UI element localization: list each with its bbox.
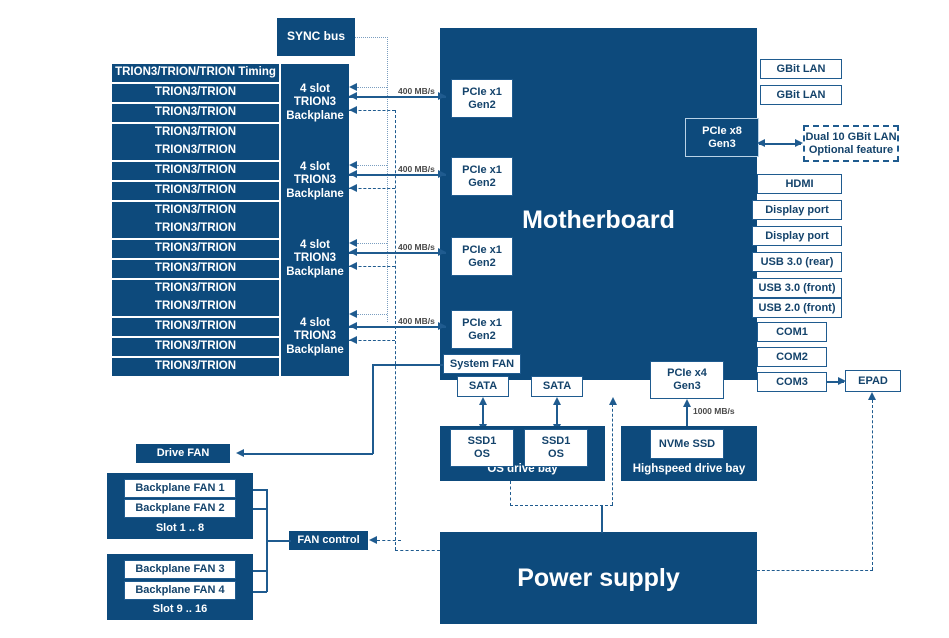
optional-lan-line-1: Dual 10 GBit LAN xyxy=(805,131,896,144)
nvme-arrow-up xyxy=(683,399,691,407)
backplane-line-1: 4 slot xyxy=(300,83,330,96)
backplane-fan-2[interactable]: Backplane FAN 2 xyxy=(124,499,236,518)
backplane-line-2: TRION3 xyxy=(294,252,336,265)
sync-bus-connector-v xyxy=(387,37,388,322)
pcie-x4-line-1: PCIe x4 xyxy=(667,367,707,380)
trion-row[interactable]: TRION3/TRION xyxy=(112,338,279,356)
os-drive-2-line-1: SSD1 xyxy=(542,435,571,448)
pcie-line-2: Gen2 xyxy=(468,257,496,270)
sata1-arrow-up xyxy=(479,397,487,405)
trion-row[interactable]: TRION3/TRION xyxy=(112,240,279,258)
pcie-x4-block[interactable]: PCIe x4 Gen3 xyxy=(650,361,724,399)
pcie-x1-block[interactable]: PCIe x1 Gen2 xyxy=(451,310,513,349)
trion-backplane-block[interactable]: 4 slot TRION3 Backplane xyxy=(281,298,349,376)
backplane-data-line xyxy=(349,326,446,328)
os-drive-2-line-2: OS xyxy=(548,448,564,461)
trion-row[interactable]: TRION3/TRION xyxy=(112,162,279,180)
port-com3[interactable]: COM3 xyxy=(757,372,827,392)
fan-control-power-line xyxy=(377,540,401,541)
backplane-line-3: Backplane xyxy=(286,344,344,357)
backplane-sync-arrow xyxy=(349,83,357,91)
backplane-data-arrow-left xyxy=(349,322,357,330)
backplane-line-3: Backplane xyxy=(286,266,344,279)
drive-bay-power-branch xyxy=(510,505,613,506)
epad-power-line-horizontal xyxy=(757,570,873,571)
power-spine-to-psu xyxy=(395,550,440,551)
backplane-fan-4[interactable]: Backplane FAN 4 xyxy=(124,581,236,600)
sata-port-2[interactable]: SATA xyxy=(531,376,583,397)
backplane-data-line xyxy=(349,96,446,98)
bandwidth-label: 400 MB/s xyxy=(398,242,435,252)
pcie-x1-block[interactable]: PCIe x1 Gen2 xyxy=(451,237,513,276)
sata2-arrow-up xyxy=(553,397,561,405)
power-supply-block[interactable]: Power supply xyxy=(440,532,757,624)
pcie-line-2: Gen2 xyxy=(468,99,496,112)
block-diagram-canvas: SYNC bus Motherboard Power supply TRION3… xyxy=(0,0,949,638)
drive-bay-power-line xyxy=(612,399,613,505)
port-hdmi[interactable]: HDMI xyxy=(757,174,842,194)
trion-row[interactable]: TRION3/TRION xyxy=(112,260,279,278)
bandwidth-label: 400 MB/s xyxy=(398,316,435,326)
trion-backplane-block[interactable]: 4 slot TRION3 Backplane xyxy=(281,64,349,142)
system-fan-line-h2 xyxy=(243,453,373,455)
fan-control-block[interactable]: FAN control xyxy=(289,531,368,550)
trion-row[interactable]: TRION3/TRION xyxy=(112,202,279,220)
backplane-sync-line xyxy=(357,87,387,88)
pcie-x8-block[interactable]: PCIe x8 Gen3 xyxy=(685,118,759,157)
backplane-data-arrow-right xyxy=(438,248,446,256)
backplane-data-line xyxy=(349,252,446,254)
bandwidth-label: 400 MB/s xyxy=(398,164,435,174)
trion-row[interactable]: TRION3/TRION xyxy=(112,104,279,122)
port-display-port-1[interactable]: Display port xyxy=(752,200,842,220)
trion-row[interactable]: TRION3/TRION xyxy=(112,358,279,376)
fan-control-bus-v xyxy=(266,489,268,592)
backplane-data-arrow-left xyxy=(349,92,357,100)
backplane-sync-line xyxy=(357,314,387,315)
backplane-line-3: Backplane xyxy=(286,188,344,201)
backplane-sync-arrow xyxy=(349,310,357,318)
backplane-power-arrow xyxy=(349,336,357,344)
pcie-line-2: Gen2 xyxy=(468,177,496,190)
backplane-data-arrow-right xyxy=(438,322,446,330)
trion-row[interactable]: TRION3/TRION xyxy=(112,220,279,238)
power-spine-vertical xyxy=(395,110,396,550)
backplane-power-arrow xyxy=(349,262,357,270)
pcie-line-1: PCIe x1 xyxy=(462,317,502,330)
trion-row[interactable]: TRION3/TRION xyxy=(112,182,279,200)
drive-fan-block[interactable]: Drive FAN xyxy=(136,444,230,463)
trion-row[interactable]: TRION3/TRION xyxy=(112,142,279,160)
backplane-line-2: TRION3 xyxy=(294,96,336,109)
system-fan-line-h1 xyxy=(372,364,443,366)
backplane-line-1: 4 slot xyxy=(300,239,330,252)
system-fan-line-v xyxy=(372,364,374,454)
trion-backplane-block[interactable]: 4 slot TRION3 Backplane xyxy=(281,142,349,220)
port-usb30-rear[interactable]: USB 3.0 (rear) xyxy=(752,252,842,272)
trion-row[interactable]: TRION3/TRION xyxy=(112,124,279,142)
optional-lan-line-2: Optional feature xyxy=(809,144,893,157)
pcie-x8-line-2: Gen3 xyxy=(708,138,736,151)
port-usb20-front[interactable]: USB 2.0 (front) xyxy=(752,298,842,318)
pcie-line-1: PCIe x1 xyxy=(462,164,502,177)
nvme-bandwidth-label: 1000 MB/s xyxy=(693,406,735,416)
psu-top-connector xyxy=(601,505,603,533)
drive-bay-power-arrow xyxy=(609,397,617,405)
pcie-line-1: PCIe x1 xyxy=(462,86,502,99)
backplane-fan-3[interactable]: Backplane FAN 3 xyxy=(124,560,236,579)
trion-row[interactable]: TRION3/TRION xyxy=(112,84,279,102)
os-drive-2[interactable]: SSD1 OS xyxy=(524,429,588,467)
drive-fan-arrow xyxy=(236,449,244,457)
os-drive-1[interactable]: SSD1 OS xyxy=(450,429,514,467)
backplane-sync-line xyxy=(357,243,387,244)
pcie-x1-block[interactable]: PCIe x1 Gen2 xyxy=(451,157,513,196)
port-gbit-lan-1[interactable]: GBit LAN xyxy=(760,59,842,79)
backplane-fan-1[interactable]: Backplane FAN 1 xyxy=(124,479,236,498)
epad-power-line-vertical xyxy=(872,400,873,570)
pcie-x4-line-2: Gen3 xyxy=(673,380,701,393)
sync-bus-block[interactable]: SYNC bus xyxy=(277,18,355,56)
sata-port-1[interactable]: SATA xyxy=(457,376,509,397)
epad-power-arrow xyxy=(868,392,876,400)
backplane-sync-line xyxy=(357,165,387,166)
backplane-line-3: Backplane xyxy=(286,110,344,123)
fan-control-power-arrow xyxy=(369,536,377,544)
pcie-line-1: PCIe x1 xyxy=(462,244,502,257)
port-com1[interactable]: COM1 xyxy=(757,322,827,342)
pcie-x8-lan-arrow-left xyxy=(757,139,765,147)
backplane-data-arrow-left xyxy=(349,248,357,256)
port-com2[interactable]: COM2 xyxy=(757,347,827,367)
port-display-port-2[interactable]: Display port xyxy=(752,226,842,246)
bandwidth-label: 400 MB/s xyxy=(398,86,435,96)
backplane-line-1: 4 slot xyxy=(300,161,330,174)
backplane-data-line xyxy=(349,174,446,176)
backplane-line-2: TRION3 xyxy=(294,330,336,343)
backplane-data-arrow-left xyxy=(349,170,357,178)
trion-backplane-block[interactable]: 4 slot TRION3 Backplane xyxy=(281,220,349,298)
fan-control-bus-h xyxy=(266,540,291,542)
backplane-data-arrow-right xyxy=(438,92,446,100)
backplane-line-2: TRION3 xyxy=(294,174,336,187)
os-drive-1-line-2: OS xyxy=(474,448,490,461)
trion-row[interactable]: TRION3/TRION xyxy=(112,318,279,336)
drive-bay-power-drop xyxy=(510,481,511,506)
pcie-x8-line-1: PCIe x8 xyxy=(702,125,742,138)
optional-dual-10gbit-lan-block[interactable]: Dual 10 GBit LAN Optional feature xyxy=(803,125,899,162)
sync-bus-connector-h xyxy=(355,37,388,38)
trion-row[interactable]: TRION3/TRION xyxy=(112,280,279,298)
trion-row[interactable]: TRION3/TRION xyxy=(112,298,279,316)
backplane-power-arrow xyxy=(349,184,357,192)
backplane-sync-arrow xyxy=(349,161,357,169)
backplane-power-arrow xyxy=(349,106,357,114)
backplane-data-arrow-right xyxy=(438,170,446,178)
port-gbit-lan-2[interactable]: GBit LAN xyxy=(760,85,842,105)
pcie-line-2: Gen2 xyxy=(468,330,496,343)
trion-row[interactable]: TRION3/TRION/TRION Timing xyxy=(112,64,279,82)
os-drive-1-line-1: SSD1 xyxy=(468,435,497,448)
port-usb30-front[interactable]: USB 3.0 (front) xyxy=(752,278,842,298)
pcie-x1-block[interactable]: PCIe x1 Gen2 xyxy=(451,79,513,118)
epad-block[interactable]: EPAD xyxy=(845,370,901,392)
system-fan-block[interactable]: System FAN xyxy=(443,354,521,374)
nvme-ssd-drive[interactable]: NVMe SSD xyxy=(650,429,724,459)
pcie-x8-lan-arrow-right xyxy=(795,139,803,147)
backplane-sync-arrow xyxy=(349,239,357,247)
backplane-line-1: 4 slot xyxy=(300,317,330,330)
